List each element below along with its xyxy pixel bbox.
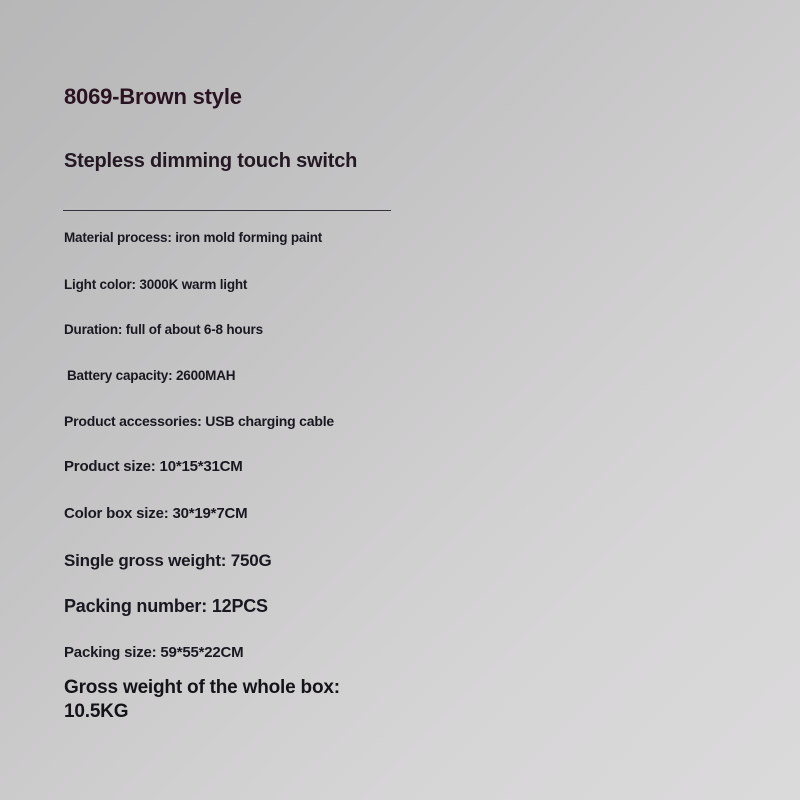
spec-line: Packing number: 12PCS	[64, 596, 268, 617]
specification-panel: 8069-Brown style Stepless dimming touch …	[0, 0, 470, 800]
header-divider	[63, 210, 391, 211]
product-spec-page: 8069-Brown style Stepless dimming touch …	[0, 0, 800, 800]
spec-gross-weight-whole-box: Gross weight of the whole box: 10.5KG	[64, 676, 364, 723]
spec-line: Color box size: 30*19*7CM	[64, 505, 247, 522]
spec-line: Single gross weight: 750G	[64, 551, 272, 571]
spec-line: Light color: 3000K warm light	[64, 277, 247, 292]
spec-line: Battery capacity: 2600MAH	[67, 368, 235, 383]
spec-line: Product size: 10*15*31CM	[64, 458, 243, 475]
product-subtitle: Stepless dimming touch switch	[64, 150, 357, 173]
spec-line: Material process: iron mold forming pain…	[64, 230, 322, 245]
product-illustration: 15cm 31cm 10cm	[455, 0, 800, 800]
spec-line: Product accessories: USB charging cable	[64, 413, 334, 429]
product-title: 8069-Brown style	[64, 84, 242, 110]
spec-line: Duration: full of about 6-8 hours	[64, 322, 263, 337]
spec-line: Packing size: 59*55*22CM	[64, 644, 243, 661]
